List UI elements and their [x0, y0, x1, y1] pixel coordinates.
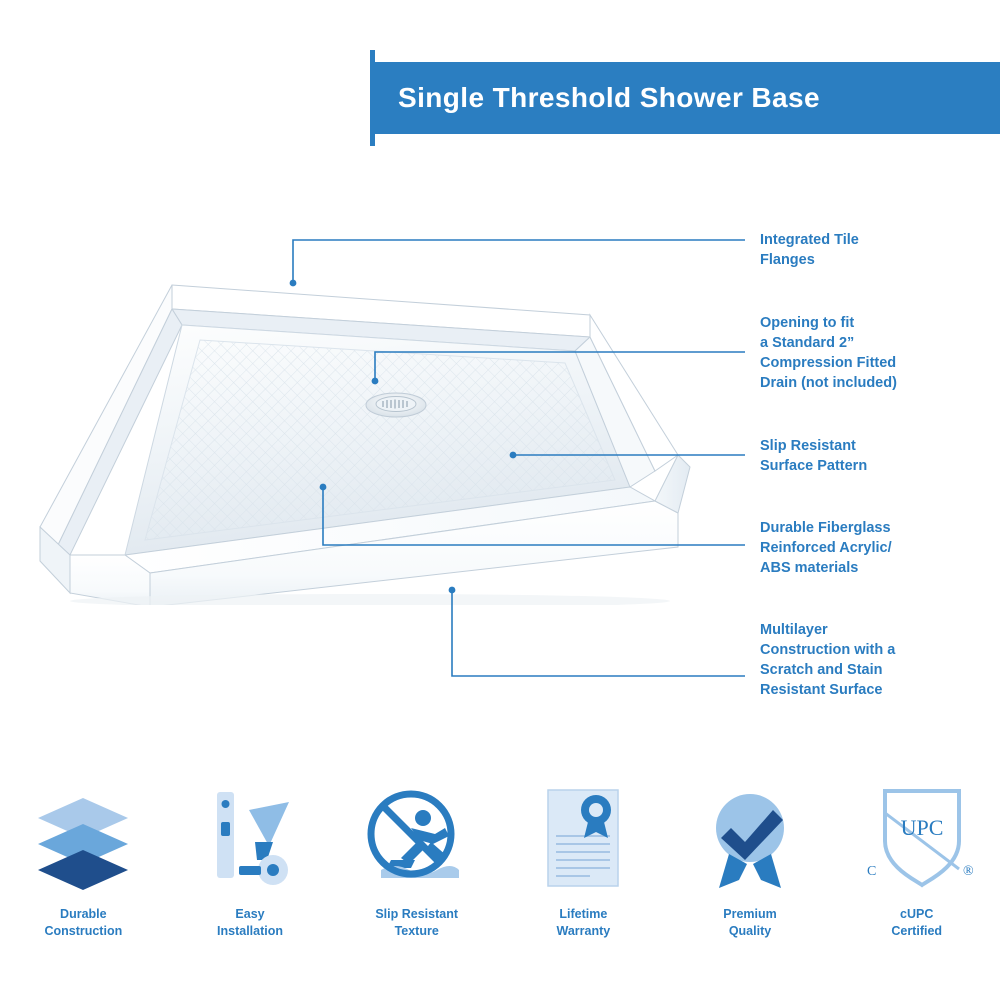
feature-cupc-certified: UPC C ® cUPC Certified — [833, 780, 1000, 980]
callout-integrated-tile-flanges: Integrated Tile Flanges — [760, 230, 859, 270]
feature-caption: Durable Construction — [44, 906, 122, 940]
feature-easy-installation: Easy Installation — [167, 780, 334, 980]
feature-durable-construction: Durable Construction — [0, 780, 167, 980]
tools-icon — [195, 780, 305, 898]
no-slip-icon — [361, 780, 473, 898]
callout-drain-opening: Opening to fit a Standard 2” Compression… — [760, 313, 897, 393]
callout-durable-materials: Durable Fiberglass Reinforced Acrylic/ A… — [760, 518, 892, 578]
shield-mark-registered: ® — [963, 864, 974, 879]
feature-caption: Slip Resistant Texture — [375, 906, 458, 940]
ribbon-check-icon — [695, 780, 805, 898]
feature-slip-resistant-texture: Slip Resistant Texture — [333, 780, 500, 980]
shield-label: UPC — [900, 815, 943, 840]
feature-caption: Lifetime Warranty — [556, 906, 610, 940]
certificate-icon — [528, 780, 638, 898]
upc-shield-icon: UPC C ® — [855, 780, 979, 898]
layers-icon — [28, 780, 138, 898]
feature-premium-quality: Premium Quality — [667, 780, 834, 980]
feature-lifetime-warranty: Lifetime Warranty — [500, 780, 667, 980]
callout-slip-resistant-surface: Slip Resistant Surface Pattern — [760, 436, 867, 476]
feature-caption: Easy Installation — [217, 906, 283, 940]
feature-icon-row: Durable Construction Easy Installation — [0, 780, 1000, 980]
callout-multilayer-construction: Multilayer Construction with a Scratch a… — [760, 620, 895, 700]
feature-caption: Premium Quality — [723, 906, 777, 940]
shield-mark-c: C — [867, 864, 876, 879]
feature-caption: cUPC Certified — [891, 906, 942, 940]
